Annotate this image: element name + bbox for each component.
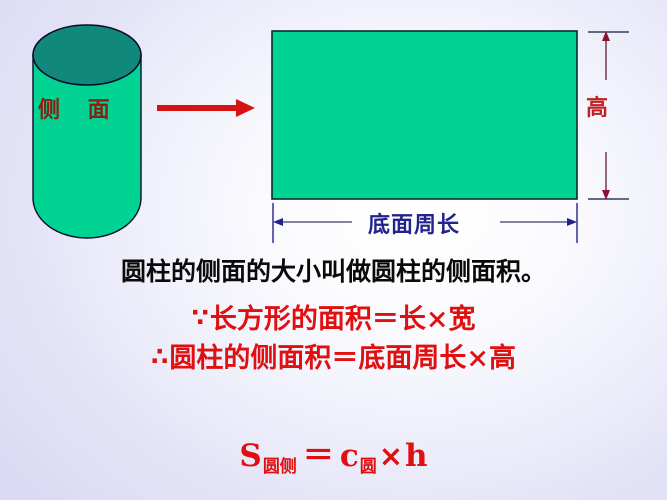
text-block: 圆柱的侧面的大小叫做圆柱的侧面积。 ∵长方形的面积＝长×宽 ∴圆柱的侧面积＝底面…	[0, 258, 667, 374]
base-circumference-label: 底面周长	[368, 215, 460, 237]
cylinder-lateral-label: 侧 面	[38, 100, 120, 122]
final-formula: S圆侧＝c圆×h	[0, 430, 667, 477]
height-label: 高	[586, 98, 608, 120]
slide-canvas: 侧 面 高 底面周长 圆柱的侧面的大小叫做圆柱的侧面积。 ∵长方形的面积＝长×宽…	[0, 0, 667, 500]
conclusion-equation-text: 圆柱的侧面积＝底面周长×高	[169, 343, 516, 374]
transform-arrow	[157, 99, 255, 117]
premise-equation: ∵长方形的面积＝长×宽	[0, 303, 667, 336]
cylinder-top-ellipse	[33, 25, 141, 85]
statement-text: 圆柱的侧面的大小叫做圆柱的侧面积。	[0, 258, 667, 287]
formula-equals-sign: ＝	[297, 438, 340, 474]
premise-equation-text: 长方形的面积＝长×宽	[210, 304, 476, 335]
formula-times-sign: ×	[377, 439, 405, 473]
formula-c-subscript: 圆	[359, 457, 377, 477]
formula-c-symbol: c	[340, 438, 359, 474]
unrolled-rectangle	[272, 31, 577, 199]
therefore-symbol: ∴	[151, 342, 169, 371]
formula-h-symbol: h	[405, 438, 428, 474]
conclusion-equation: ∴圆柱的侧面积＝底面周长×高	[0, 342, 667, 375]
because-symbol: ∵	[191, 303, 209, 332]
formula-s-subscript: 圆侧	[262, 457, 297, 477]
formula-s-symbol: S	[239, 438, 261, 474]
figure-area	[0, 0, 667, 260]
